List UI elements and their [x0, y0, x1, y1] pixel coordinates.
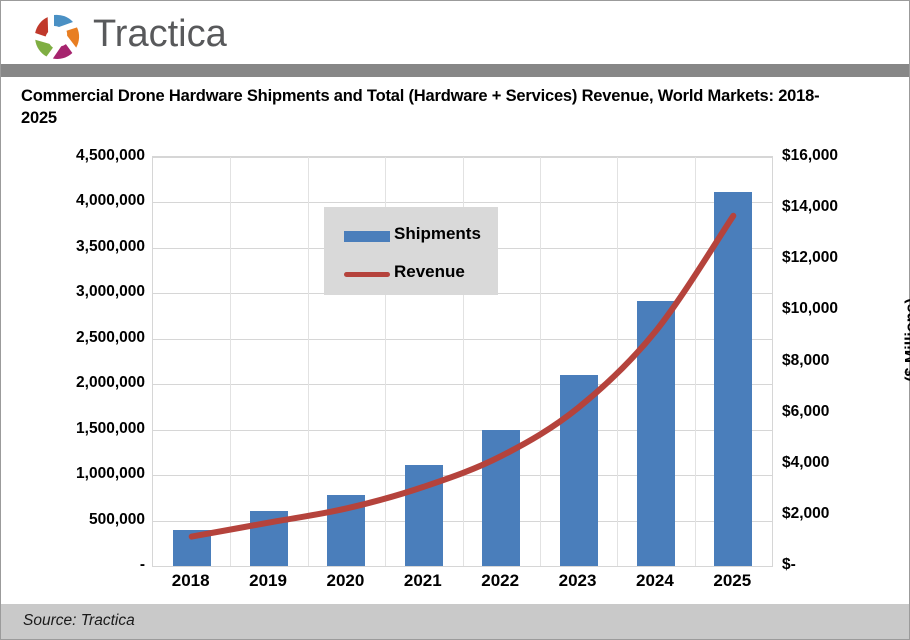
x-axis-tick-label: 2020 — [306, 571, 384, 591]
source-footer: Source: Tractica — [1, 604, 909, 639]
x-axis-tick-label: 2024 — [616, 571, 694, 591]
y-axis-left-ticks: -500,0001,000,0001,500,0002,000,0002,500… — [15, 156, 145, 565]
legend-bar-swatch-icon — [344, 231, 390, 242]
y-axis-right-tick-label: $6,000 — [782, 403, 892, 421]
y-axis-right-tick-label: $10,000 — [782, 300, 892, 318]
y-axis-left-tick-label: 1,500,000 — [21, 420, 145, 438]
y-axis-right-tick-label: $- — [782, 556, 892, 574]
x-axis-tick-label: 2025 — [693, 571, 771, 591]
y-axis-left-tick-label: 3,000,000 — [21, 283, 145, 301]
y-axis-right-tick-label: $16,000 — [782, 147, 892, 165]
y-axis-right-tick-label: $14,000 — [782, 198, 892, 216]
y-axis-left-tick-label: 500,000 — [21, 511, 145, 529]
x-axis-ticks: 20182019202020212022202320242025 — [152, 571, 771, 601]
y-axis-left-tick-label: 1,000,000 — [21, 465, 145, 483]
y-axis-right-ticks: $-$2,000$4,000$6,000$8,000$10,000$12,000… — [782, 156, 894, 565]
chart-container: (Units) ($ Millions) -500,0001,000,0001,… — [1, 131, 909, 601]
brand-header: Tractica — [1, 1, 909, 64]
y-axis-left-tick-label: 2,000,000 — [21, 374, 145, 392]
y-axis-right-title: ($ Millions) — [903, 298, 910, 382]
page-title: Commercial Drone Hardware Shipments and … — [21, 85, 851, 129]
legend-item-revenue: Revenue — [324, 259, 498, 289]
legend-label-shipments: Shipments — [394, 224, 481, 244]
y-axis-right-tick-label: $8,000 — [782, 352, 892, 370]
x-axis-tick-label: 2021 — [384, 571, 462, 591]
y-axis-right-tick-label: $4,000 — [782, 454, 892, 472]
y-axis-left-tick-label: 4,000,000 — [21, 192, 145, 210]
tractica-logo-icon — [31, 11, 83, 63]
plot-area: Shipments Revenue — [152, 156, 773, 567]
legend-label-revenue: Revenue — [394, 262, 465, 282]
y-axis-left-tick-label: 3,500,000 — [21, 238, 145, 256]
y-axis-right-tick-label: $12,000 — [782, 249, 892, 267]
chart-page: Tractica Commercial Drone Hardware Shipm… — [0, 0, 910, 640]
legend-item-shipments: Shipments — [324, 221, 498, 251]
y-axis-left-tick-label: - — [21, 556, 145, 574]
y-axis-left-tick-label: 4,500,000 — [21, 147, 145, 165]
x-axis-tick-label: 2019 — [229, 571, 307, 591]
x-axis-tick-label: 2023 — [539, 571, 617, 591]
source-label: Source: Tractica — [23, 612, 135, 630]
chart-legend: Shipments Revenue — [324, 207, 498, 295]
brand-name: Tractica — [93, 13, 227, 56]
x-axis-tick-label: 2022 — [461, 571, 539, 591]
y-axis-right-tick-label: $2,000 — [782, 505, 892, 523]
y-axis-left-tick-label: 2,500,000 — [21, 329, 145, 347]
x-axis-tick-label: 2018 — [152, 571, 230, 591]
legend-line-swatch-icon — [344, 272, 390, 277]
header-divider — [1, 64, 909, 77]
gridline — [153, 566, 772, 567]
